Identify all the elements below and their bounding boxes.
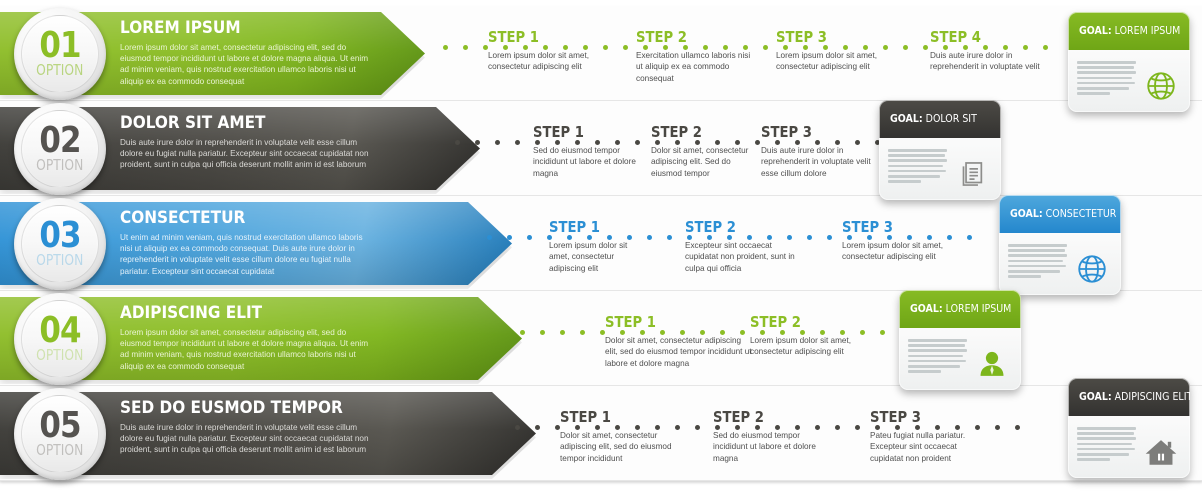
goal-card-1[interactable]: GOAL: LOREM IPSUM [1068, 12, 1190, 112]
step-heading: STEP 3 [842, 220, 956, 235]
option-title: SED DO EUSMOD TEMPOR [120, 398, 345, 418]
step-heading: STEP 3 [761, 125, 862, 140]
step-heading: STEP 3 [870, 410, 967, 425]
option-badge-2[interactable]: 02 OPTION [14, 103, 106, 195]
band-text-block-4: ADIPISCING ELIT Lorem ipsum dolor sit am… [120, 303, 370, 372]
band-text-block-5: SED DO EUSMOD TEMPOR Duis aute irure dol… [120, 398, 370, 456]
step-heading: STEP 2 [685, 220, 791, 235]
step-heading: STEP 3 [776, 30, 868, 45]
option-row-1[interactable]: 01 OPTION LOREM IPSUM Lorem ipsum dolor … [0, 6, 1202, 101]
option-badge-3[interactable]: 03 OPTION [14, 198, 106, 290]
goal-prefix: GOAL: [910, 303, 943, 315]
goal-title: LOREM IPSUM [1115, 25, 1181, 37]
band-text-block-1: LOREM IPSUM Lorem ipsum dolor sit amet, … [120, 18, 370, 87]
step-description: Dolor sit amet, consectetur adipiscing e… [651, 145, 761, 179]
option-number: 02 [39, 126, 80, 156]
goal-card-header: GOAL: LOREM IPSUM [899, 290, 1021, 328]
badge-ring: 03 OPTION [21, 205, 99, 283]
goal-card-2[interactable]: GOAL: DOLOR SIT [879, 100, 1001, 200]
step-item[interactable]: STEP 2 Sed do eiusmod tempor incididunt … [713, 410, 828, 464]
step-description: Lorem ipsum dolor sit amet, consectetur … [488, 50, 613, 73]
globe-icon [1140, 59, 1182, 112]
step-heading: STEP 1 [605, 315, 737, 330]
globe-icon [1071, 242, 1113, 295]
step-description: Dolor sit amet, consectetur adipiscing e… [605, 335, 755, 369]
goal-card-header: GOAL: ADIPISCING ELIT [1068, 378, 1190, 416]
step-description: Lorem ipsum dolor sit amet, consectetur … [549, 240, 649, 274]
step-heading: STEP 4 [930, 30, 1040, 45]
step-description: Exercitation ullamco laboris nisi ut ali… [636, 50, 756, 84]
goal-card-body [899, 328, 1021, 390]
goal-placeholder-text [1077, 59, 1136, 112]
step-item[interactable]: STEP 2 Lorem ipsum dolor sit amet, conse… [750, 315, 870, 358]
option-caption: OPTION [36, 158, 83, 173]
step-item[interactable]: STEP 1 Dolor sit amet, consectetur adipi… [605, 315, 755, 369]
goal-card-4[interactable]: GOAL: LOREM IPSUM [899, 290, 1021, 390]
goal-card-body [879, 138, 1001, 200]
goal-placeholder-text [908, 337, 967, 390]
step-item[interactable]: STEP 2 Dolor sit amet, consectetur adipi… [651, 125, 761, 179]
user-icon [971, 337, 1013, 390]
step-description: Lorem ipsum dolor sit amet, consectetur … [750, 335, 870, 358]
goal-placeholder-text [1008, 242, 1067, 295]
badge-ring: 01 OPTION [21, 15, 99, 93]
option-badge-1[interactable]: 01 OPTION [14, 8, 106, 100]
step-description: Sed do eiusmod tempor incididunt ut labo… [713, 430, 828, 464]
steps-container-3: STEP 1 Lorem ipsum dolor sit amet, conse… [487, 196, 1007, 291]
step-item[interactable]: STEP 4 Duis aute irure dolor in reprehen… [930, 30, 1055, 73]
documents-icon [951, 147, 993, 200]
step-description: Duis aute irure dolor in reprehenderit i… [930, 50, 1055, 73]
band-text-block-2: DOLOR SIT AMET Duis aute irure dolor in … [120, 113, 370, 171]
step-item[interactable]: STEP 3 Lorem ipsum dolor sit amet, conse… [842, 220, 972, 263]
step-heading: STEP 2 [636, 30, 742, 45]
steps-container-2: STEP 1 Sed do eiusmod tempor incididunt … [455, 101, 905, 196]
option-badge-5[interactable]: 05 OPTION [14, 388, 106, 480]
step-item[interactable]: STEP 1 Lorem ipsum dolor sit amet, conse… [488, 30, 613, 73]
option-caption: OPTION [36, 63, 83, 78]
goal-placeholder-text [888, 147, 947, 200]
option-number: 04 [39, 316, 80, 346]
step-item[interactable]: STEP 3 Duis aute irure dolor in reprehen… [761, 125, 876, 179]
option-caption: OPTION [36, 348, 83, 363]
step-description: Pateu fugiat nulla pariatur. Excepteur s… [870, 430, 980, 464]
step-description: Excepteur sint occaecat cupidatat non pr… [685, 240, 805, 274]
option-title: CONSECTETUR [120, 208, 345, 228]
goal-card-body [1068, 50, 1190, 112]
goal-prefix: GOAL: [1079, 25, 1112, 37]
option-row-5[interactable]: 05 OPTION SED DO EUSMOD TEMPOR Duis aute… [0, 386, 1202, 481]
band-text-block-3: CONSECTETUR Ut enim ad minim veniam, qui… [120, 208, 370, 277]
step-description: Lorem ipsum dolor sit amet, consectetur … [842, 240, 972, 263]
option-number: 01 [39, 31, 80, 61]
steps-container-1: STEP 1 Lorem ipsum dolor sit amet, conse… [443, 6, 1063, 101]
goal-card-body [999, 233, 1121, 295]
steps-container-4: STEP 1 Dolor sit amet, consectetur adipi… [520, 291, 940, 386]
step-item[interactable]: STEP 1 Lorem ipsum dolor sit amet, conse… [549, 220, 649, 274]
goal-card-body [1068, 416, 1190, 478]
steps-container-5: STEP 1 Dolor sit amet, consectetur adipi… [515, 386, 1045, 481]
infographic-canvas: 01 OPTION LOREM IPSUM Lorem ipsum dolor … [0, 0, 1202, 500]
goal-card-5[interactable]: GOAL: ADIPISCING ELIT [1068, 378, 1190, 478]
option-badge-4[interactable]: 04 OPTION [14, 293, 106, 385]
goal-title: LOREM IPSUM [946, 303, 1012, 315]
step-heading: STEP 2 [713, 410, 814, 425]
goal-prefix: GOAL: [890, 113, 923, 125]
step-item[interactable]: STEP 1 Sed do eiusmod tempor incididunt … [533, 125, 643, 179]
option-title: DOLOR SIT AMET [120, 113, 345, 133]
badge-ring: 05 OPTION [21, 395, 99, 473]
step-item[interactable]: STEP 2 Exercitation ullamco laboris nisi… [636, 30, 756, 84]
option-description: Ut enim ad minim veniam, quis nostrud ex… [120, 232, 370, 277]
step-heading: STEP 1 [560, 410, 661, 425]
home-icon [1140, 425, 1182, 478]
step-description: Lorem ipsum dolor sit amet, consectetur … [776, 50, 881, 73]
option-description: Lorem ipsum dolor sit amet, consectetur … [120, 327, 370, 372]
goal-card-header: GOAL: LOREM IPSUM [1068, 12, 1190, 50]
step-description: Sed do eiusmod tempor incididunt ut labo… [533, 145, 643, 179]
option-title: LOREM IPSUM [120, 18, 345, 38]
goal-title: CONSECTETUR [1046, 208, 1117, 220]
step-item[interactable]: STEP 2 Excepteur sint occaecat cupidatat… [685, 220, 805, 274]
goal-card-3[interactable]: GOAL: CONSECTETUR [999, 195, 1121, 295]
step-description: Duis aute irure dolor in reprehenderit i… [761, 145, 876, 179]
option-title: ADIPISCING ELIT [120, 303, 345, 323]
step-heading: STEP 1 [533, 125, 630, 140]
goal-placeholder-text [1077, 425, 1136, 478]
goal-prefix: GOAL: [1079, 391, 1112, 403]
step-item[interactable]: STEP 3 Pateu fugiat nulla pariatur. Exce… [870, 410, 980, 464]
option-row-2[interactable]: 02 OPTION DOLOR SIT AMET Duis aute irure… [0, 101, 1202, 196]
option-caption: OPTION [36, 253, 83, 268]
goal-prefix: GOAL: [1010, 208, 1043, 220]
step-heading: STEP 2 [750, 315, 856, 330]
goal-card-header: GOAL: CONSECTETUR [999, 195, 1121, 233]
step-description: Dolor sit amet, consectetur adipiscing e… [560, 430, 675, 464]
badge-ring: 04 OPTION [21, 300, 99, 378]
option-number: 05 [39, 411, 80, 441]
option-description: Duis aute irure dolor in reprehenderit i… [120, 137, 370, 171]
step-heading: STEP 2 [651, 125, 748, 140]
badge-ring: 02 OPTION [21, 110, 99, 188]
option-row-4[interactable]: 04 OPTION ADIPISCING ELIT Lorem ipsum do… [0, 291, 1202, 386]
goal-title: DOLOR SIT [926, 113, 977, 125]
goal-title: ADIPISCING ELIT [1115, 391, 1190, 403]
step-heading: STEP 1 [549, 220, 637, 235]
step-item[interactable]: STEP 3 Lorem ipsum dolor sit amet, conse… [776, 30, 881, 73]
option-number: 03 [39, 221, 80, 251]
option-caption: OPTION [36, 443, 83, 458]
step-item[interactable]: STEP 1 Dolor sit amet, consectetur adipi… [560, 410, 675, 464]
option-description: Duis aute irure dolor in reprehenderit i… [120, 422, 370, 456]
step-heading: STEP 1 [488, 30, 598, 45]
goal-card-header: GOAL: DOLOR SIT [879, 100, 1001, 138]
option-description: Lorem ipsum dolor sit amet, consectetur … [120, 42, 370, 87]
